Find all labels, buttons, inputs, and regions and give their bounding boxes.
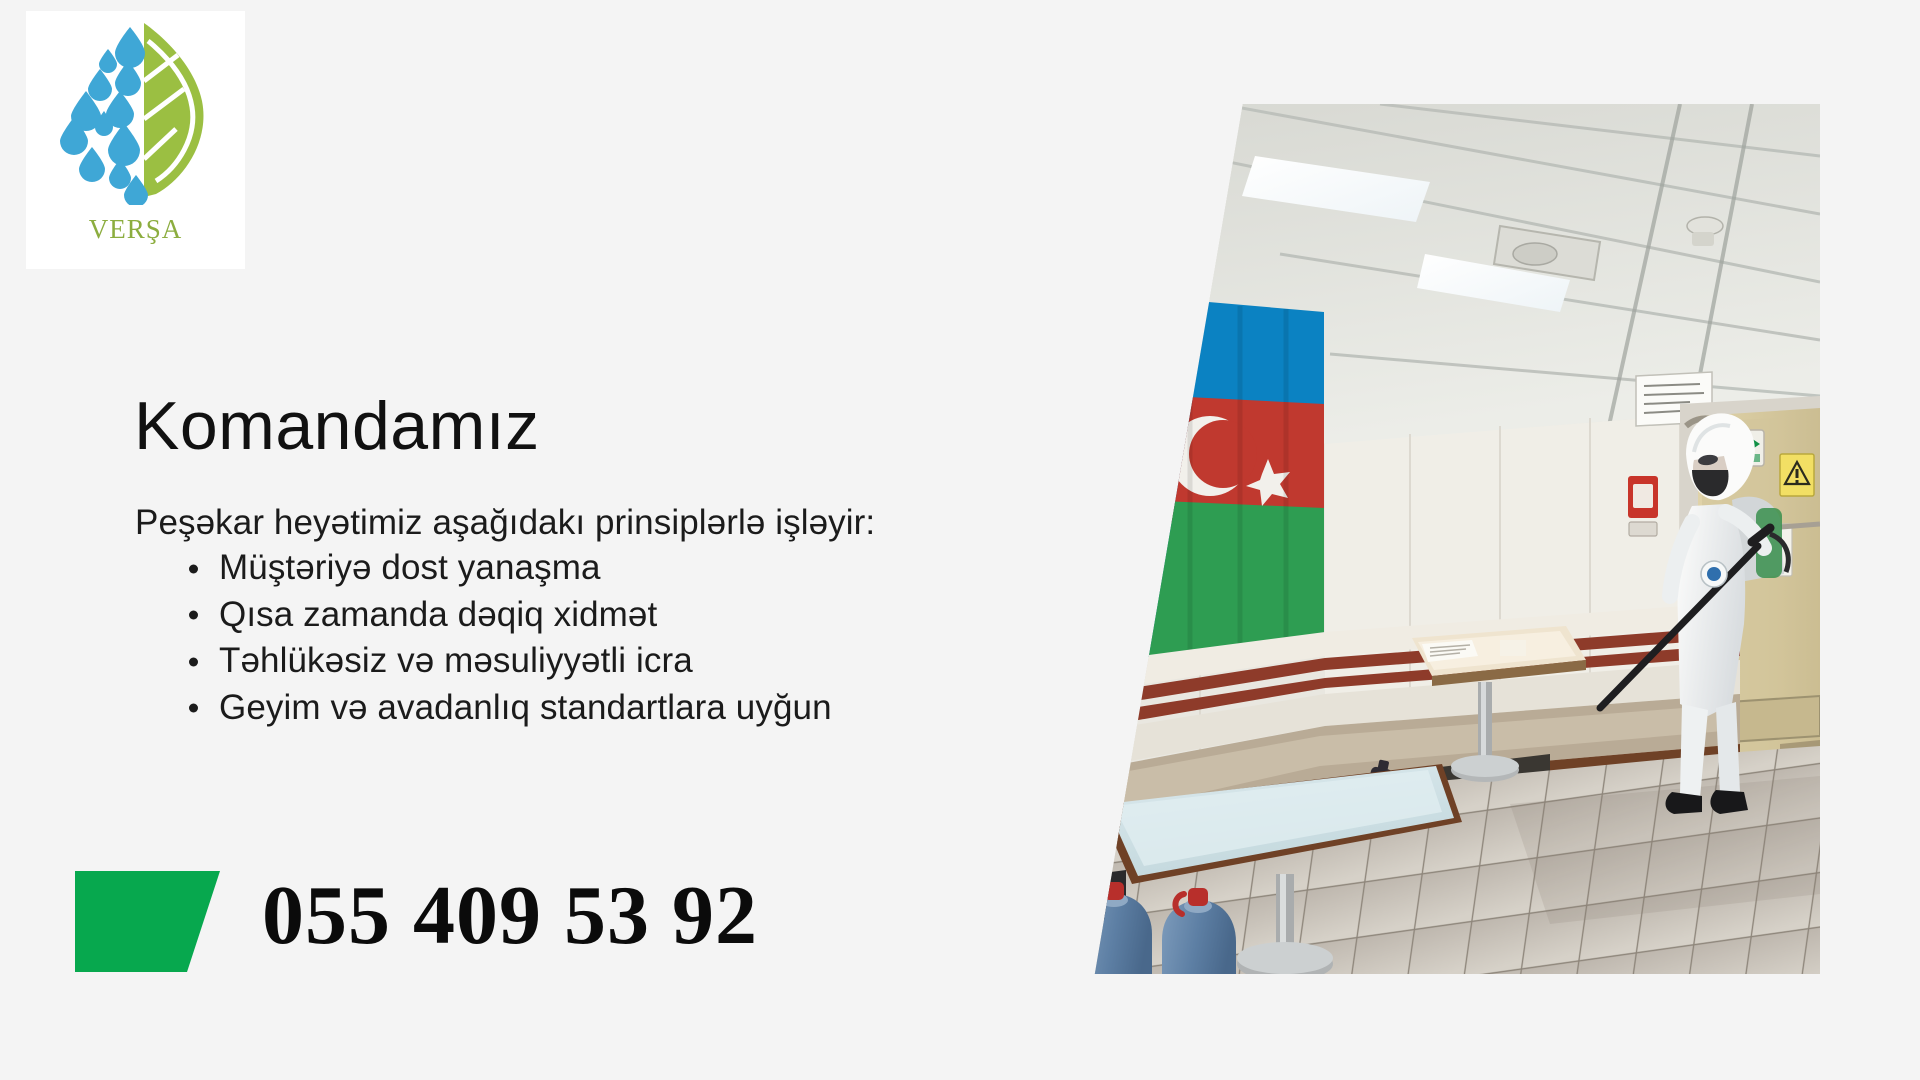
brand-wordmark: Verşa	[89, 207, 183, 245]
photo-frame: EXIT ÇIXIŞ	[1080, 104, 1820, 974]
water-drop-leaf-icon	[52, 19, 220, 205]
list-item: Geyim və avadanlıq standartlara uyğun	[183, 685, 1095, 732]
bullet-dot-icon	[189, 704, 198, 713]
lead-paragraph: Peşəkar heyətimiz aşağıdakı prinsiplərlə…	[135, 502, 1095, 543]
slide-canvas: Verşa Komandamız Peşəkar heyətimiz aşağı…	[0, 0, 1920, 1080]
disinfection-photo: EXIT ÇIXIŞ	[1080, 104, 1820, 974]
list-item: Qısa zamanda dəqiq xidmət	[183, 592, 1095, 639]
phone-number[interactable]: 055 409 53 92	[262, 868, 758, 965]
list-item-label: Müştəriyə dost yanaşma	[219, 548, 601, 587]
list-item-label: Qısa zamanda dəqiq xidmət	[219, 595, 657, 634]
list-item-label: Geyim və avadanlıq standartlara uyğun	[219, 688, 832, 727]
bullet-dot-icon	[189, 657, 198, 666]
principles-list: Müştəriyə dost yanaşma Qısa zamanda dəqi…	[135, 545, 1095, 731]
bullet-dot-icon	[189, 564, 198, 573]
bullet-dot-icon	[189, 611, 198, 620]
page-title: Komandamız	[134, 391, 540, 462]
brand-logo: Verşa	[26, 11, 245, 269]
green-trapezoid-accent	[75, 871, 220, 972]
content-block: Peşəkar heyətimiz aşağıdakı prinsiplərlə…	[135, 502, 1095, 731]
list-item: Təhlükəsiz və məsuliyyətli icra	[183, 638, 1095, 685]
list-item-label: Təhlükəsiz və məsuliyyətli icra	[219, 641, 693, 680]
list-item: Müştəriyə dost yanaşma	[183, 545, 1095, 592]
